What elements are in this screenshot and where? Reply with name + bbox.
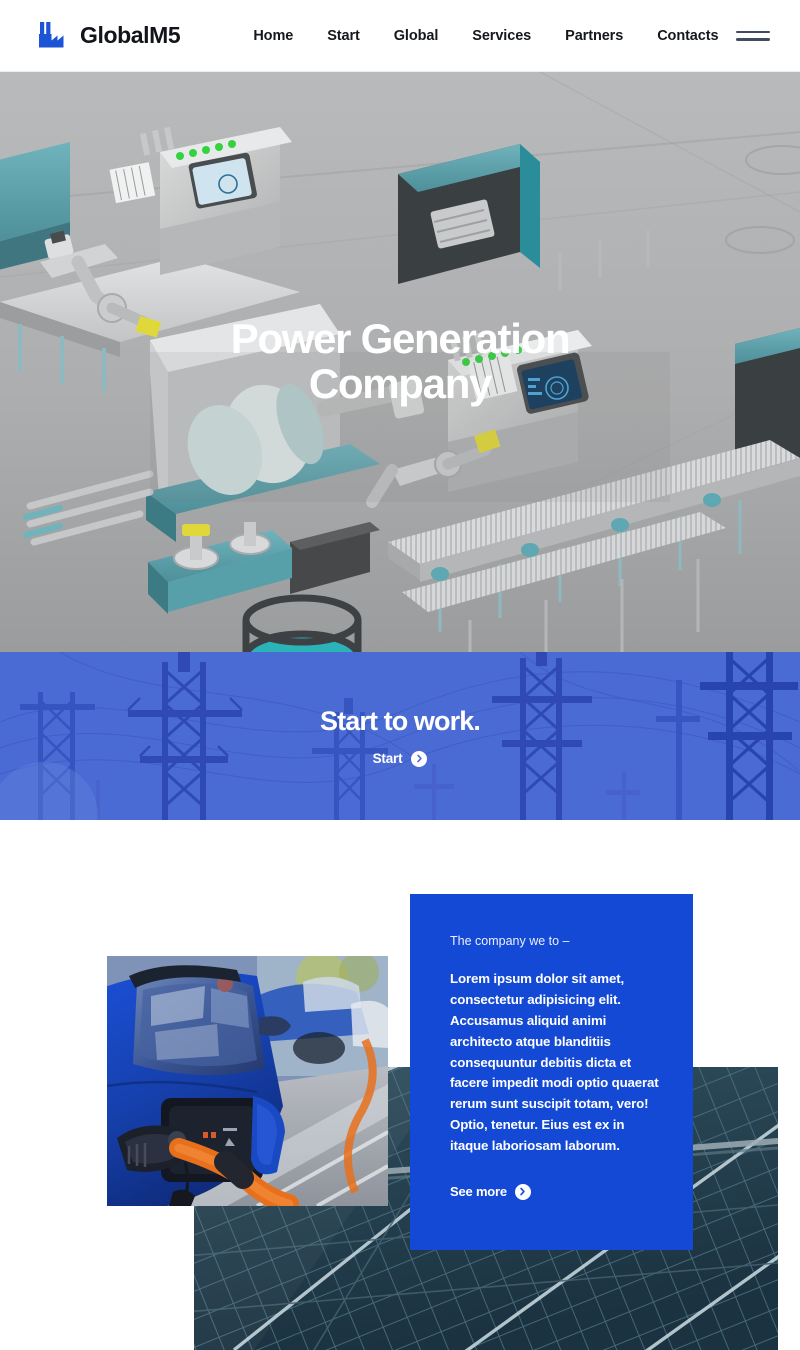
- brand-name: GlobalM5: [80, 22, 180, 49]
- info-card: The company we to – Lorem ipsum dolor si…: [410, 894, 693, 1250]
- cta-section: Start to work. Start: [0, 652, 800, 820]
- chevron-right-icon: [411, 751, 427, 767]
- hamburger-icon[interactable]: [736, 27, 770, 45]
- hero-section: Power Generation Company: [0, 72, 800, 652]
- nav-item-services[interactable]: Services: [455, 22, 548, 50]
- chevron-right-icon: [515, 1184, 531, 1200]
- hamburger-line: [736, 31, 770, 34]
- hamburger-line: [736, 38, 770, 41]
- factory-icon: [36, 19, 70, 53]
- main-nav: Home Start Global Services Partners Cont…: [236, 22, 735, 50]
- cta-title: Start to work.: [320, 706, 480, 737]
- site-header: GlobalM5 Home Start Global Services Part…: [0, 0, 800, 72]
- see-more-link[interactable]: See more: [450, 1184, 659, 1200]
- start-link[interactable]: Start: [373, 751, 428, 767]
- nav-item-contacts[interactable]: Contacts: [640, 22, 735, 50]
- content-section: The company we to – Lorem ipsum dolor si…: [0, 820, 800, 1350]
- ev-charging-image: [107, 956, 388, 1206]
- start-link-label: Start: [373, 751, 403, 766]
- nav-item-home[interactable]: Home: [236, 22, 310, 50]
- nav-item-global[interactable]: Global: [377, 22, 456, 50]
- cta-content: Start to work. Start: [0, 652, 800, 820]
- nav-item-partners[interactable]: Partners: [548, 22, 640, 50]
- card-body-text: Lorem ipsum dolor sit amet, consectetur …: [450, 969, 659, 1157]
- see-more-label: See more: [450, 1184, 507, 1199]
- hero-background-image: [0, 72, 800, 652]
- brand-logo[interactable]: GlobalM5: [36, 19, 180, 53]
- nav-item-start[interactable]: Start: [310, 22, 377, 50]
- card-eyebrow: The company we to –: [450, 934, 659, 948]
